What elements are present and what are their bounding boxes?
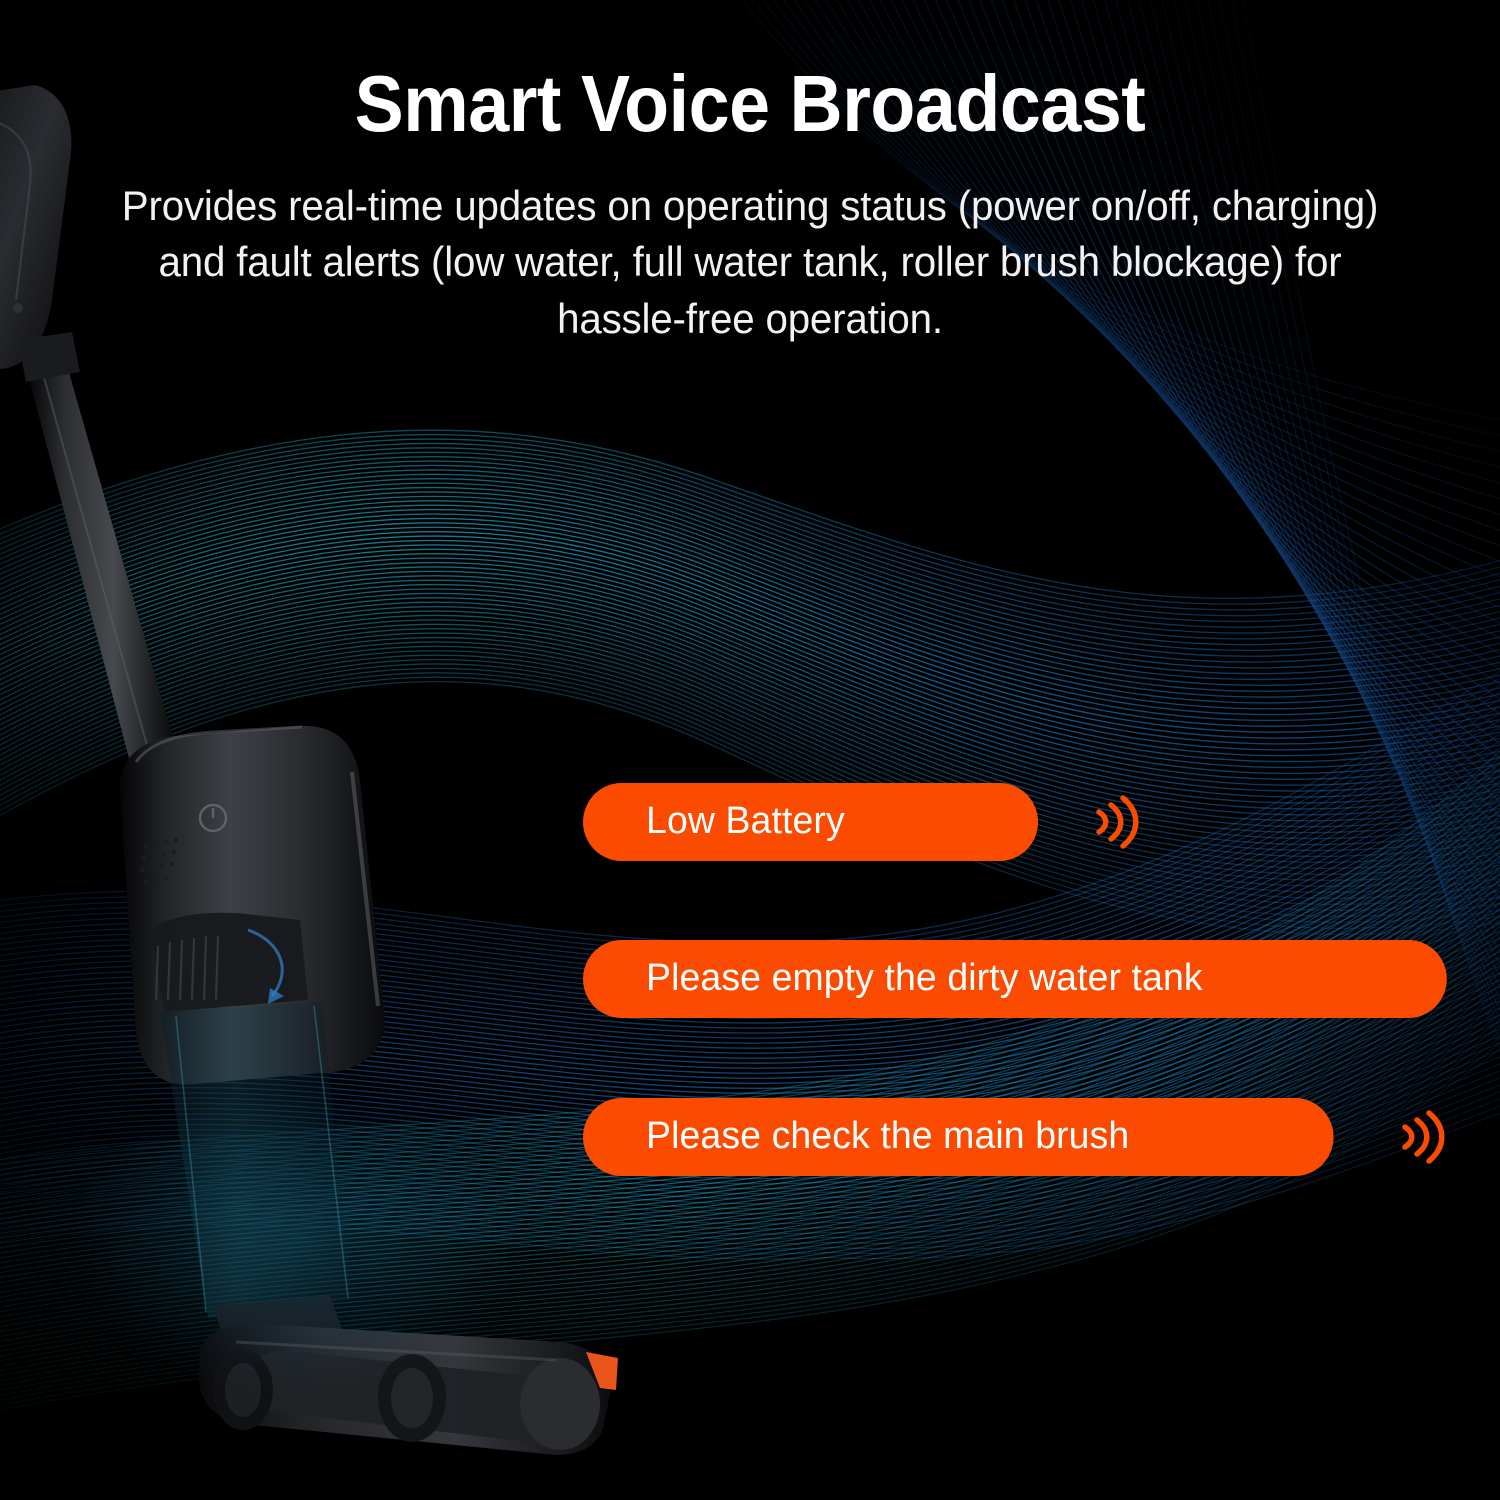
alert-pill-main-brush[interactable]: Please check the main brush: [583, 1098, 1334, 1176]
alert-pill-label: Please check the main brush: [646, 1117, 1129, 1155]
alert-row-main-brush: Please check the main brush: [583, 1098, 1449, 1176]
vacuum-wand-tube: [18, 332, 188, 800]
alert-row-dirty-water-tank: Please empty the dirty water tank: [583, 940, 1460, 1018]
alert-pill-low-battery[interactable]: Low Battery: [583, 783, 1038, 861]
page-subtitle: Provides real-time updates on operating …: [105, 178, 1395, 347]
vacuum-water-tank: [160, 1002, 352, 1318]
alert-pill-dirty-water-tank[interactable]: Please empty the dirty water tank: [583, 940, 1447, 1018]
infographic-canvas: Smart Voice Broadcast Provides real-time…: [0, 0, 1500, 1500]
alert-pill-label: Low Battery: [646, 802, 845, 840]
sound-wave-icon: [1081, 791, 1143, 853]
vacuum-main-body: [120, 726, 385, 1085]
speaker-grill: [140, 838, 179, 885]
orange-accent-strip: [586, 1352, 618, 1390]
page-title: Smart Voice Broadcast: [60, 62, 1440, 147]
alert-row-low-battery: Low Battery: [583, 783, 1143, 861]
vacuum-floor-head: [199, 1296, 618, 1455]
alert-pill-label: Please empty the dirty water tank: [646, 959, 1203, 997]
sound-wave-icon: [1387, 1106, 1449, 1168]
product-glow: [70, 1090, 530, 1390]
filter-ribs: [156, 936, 218, 1000]
